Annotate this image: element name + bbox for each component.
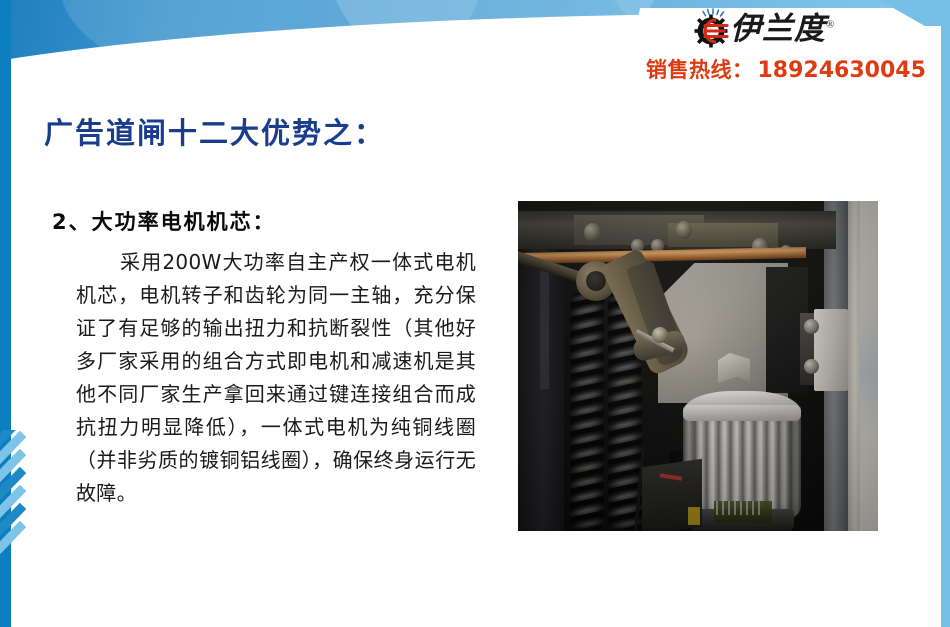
company-logo: 伊兰度®	[694, 6, 835, 50]
brand-name: 伊兰度®	[730, 13, 835, 44]
product-photo	[518, 201, 878, 531]
right-blue-edge	[941, 0, 950, 627]
hotline-number[interactable]: 18924630045	[758, 58, 926, 83]
gear-logo-icon	[694, 8, 734, 48]
body-paragraph: 采用200W大功率自主产权一体式电机机芯，电机转子和齿轮为同一主轴，充分保证了有…	[76, 246, 476, 510]
page-title: 广告道闸十二大优势之：	[44, 110, 385, 152]
sales-hotline: 销售热线：18924630045	[646, 54, 926, 84]
registered-mark: ®	[826, 18, 835, 30]
photo-vignette	[518, 201, 878, 531]
hotline-label: 销售热线：	[646, 58, 754, 82]
brand-name-text: 伊兰度	[730, 11, 826, 46]
section-heading: 2、大功率电机机芯：	[52, 206, 276, 236]
left-diagonal-stripes	[0, 430, 26, 627]
slide-canvas: 伊兰度® 销售热线：18924630045 广告道闸十二大优势之： 2、大功率电…	[0, 0, 950, 627]
